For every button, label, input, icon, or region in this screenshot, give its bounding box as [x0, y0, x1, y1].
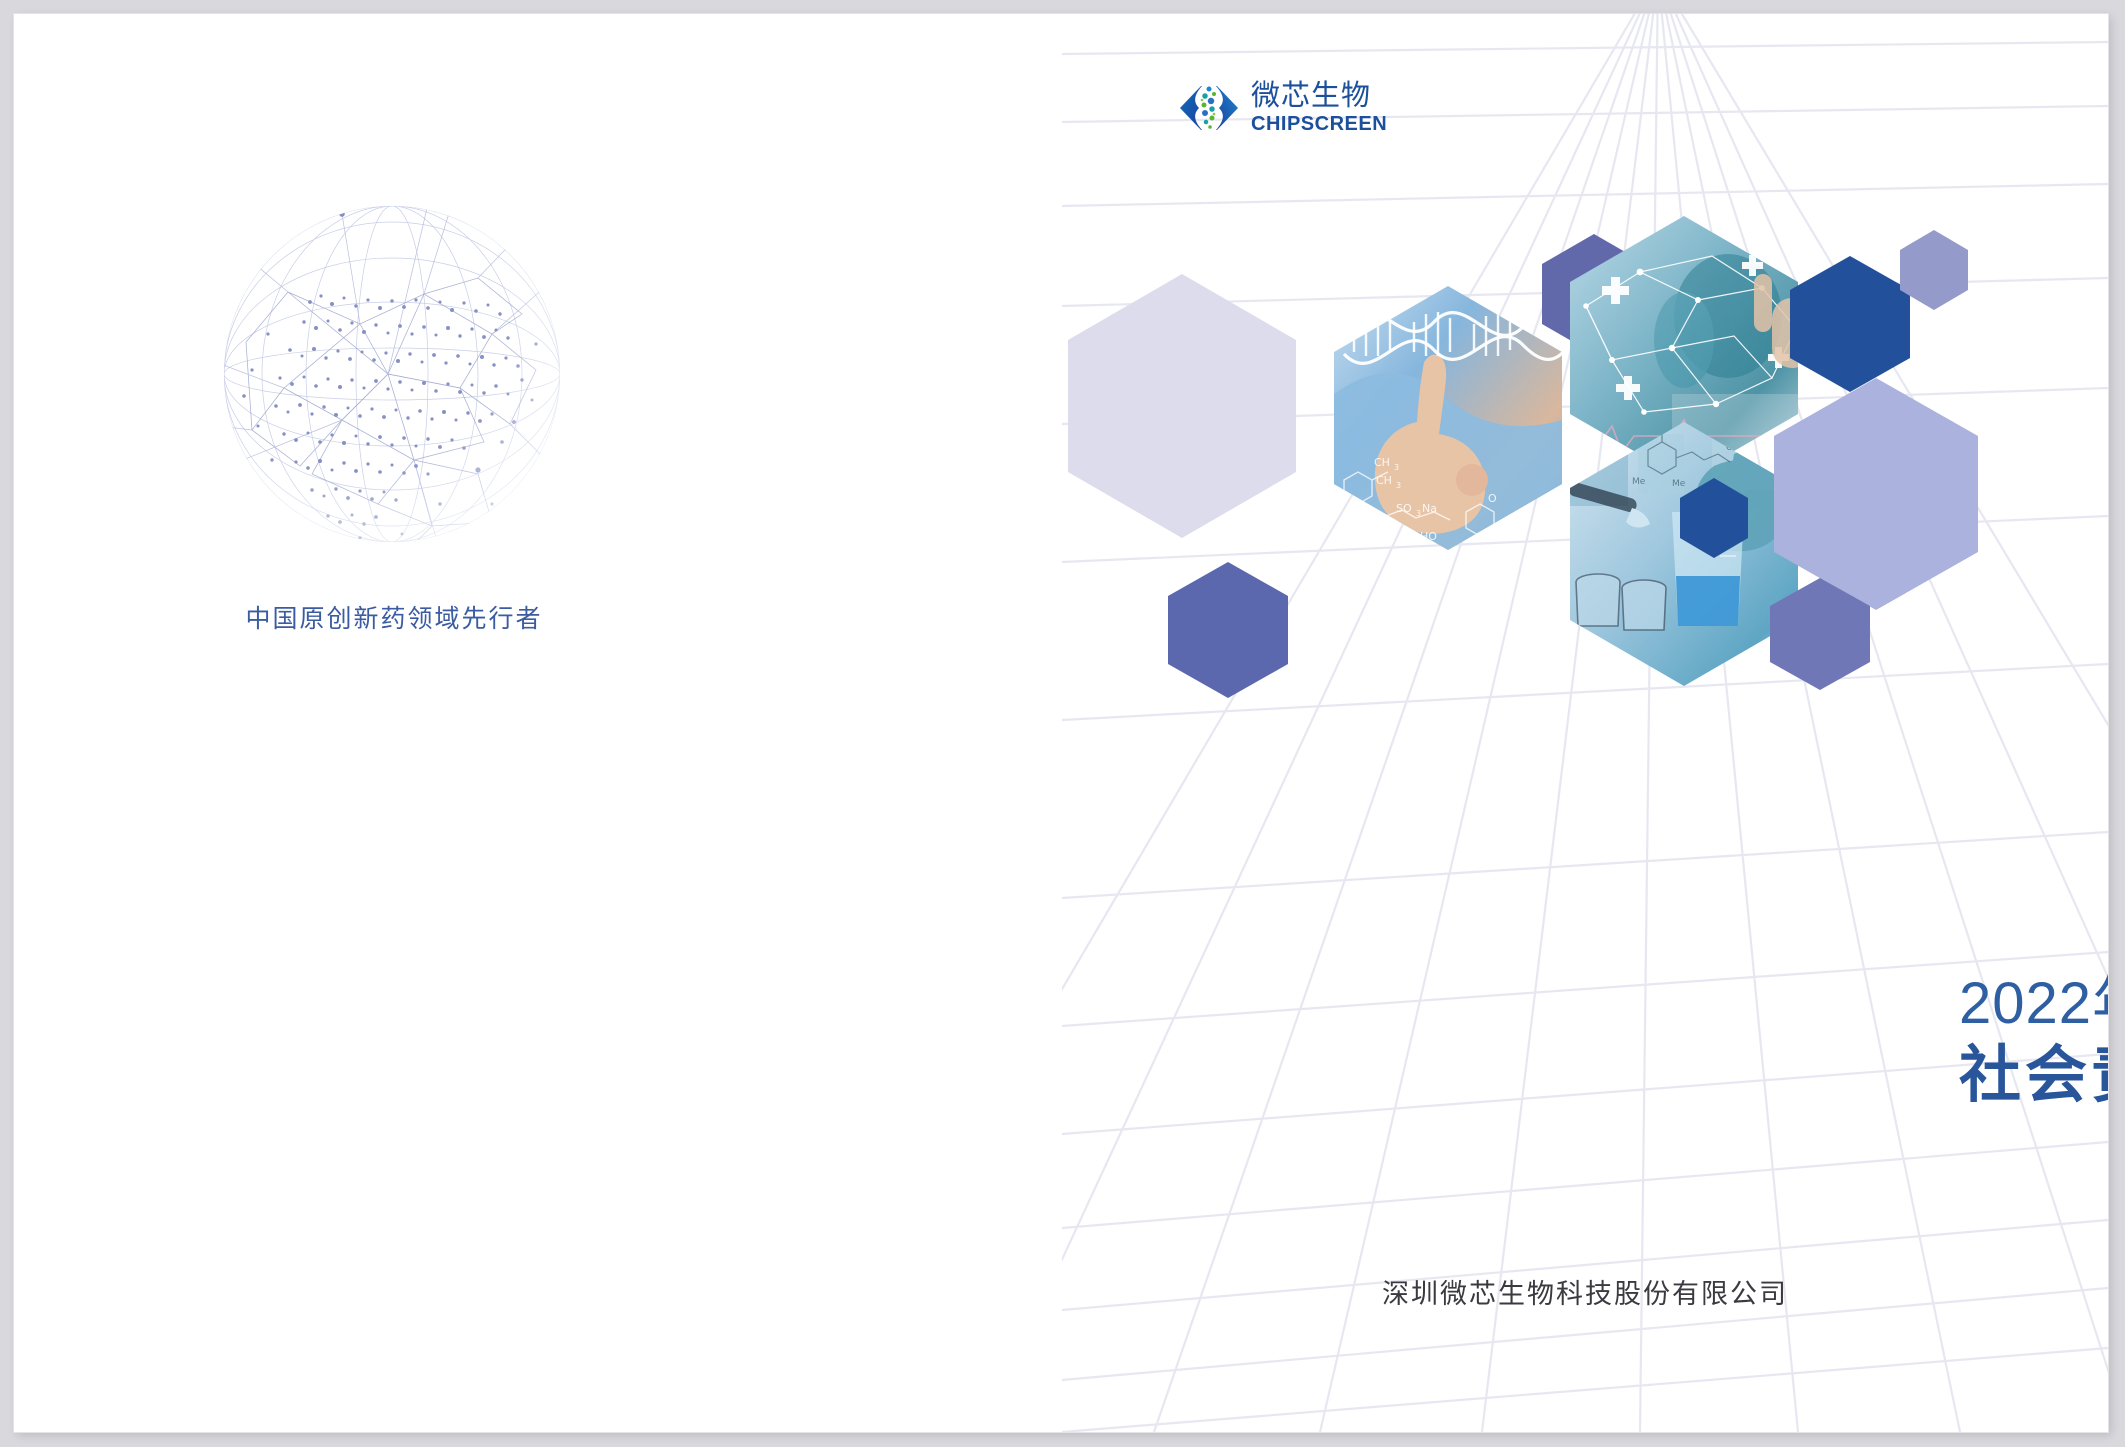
svg-text:CH: CH — [1376, 474, 1392, 487]
logo-wordmark: 微芯生物 CHIPSCREEN — [1251, 82, 1387, 134]
logo-english-name: CHIPSCREEN — [1251, 114, 1387, 134]
logo-chinese-name: 微芯生物 — [1251, 82, 1387, 111]
cover-spread: 中国原创新药领域先行者 — [0, 0, 2125, 1447]
company-logo: 微芯生物 CHIPSCREEN — [1179, 82, 1387, 134]
hex-large-periwinkle — [1774, 378, 1978, 610]
svg-text:Me: Me — [1632, 477, 1646, 487]
front-cover-page: 微芯生物 CHIPSCREEN — [1062, 14, 2108, 1432]
perspective-grid-background — [1062, 14, 2108, 1432]
hex-light-lavender — [1068, 274, 1296, 538]
svg-text:CH: CH — [1374, 456, 1390, 469]
svg-text:Na: Na — [1422, 502, 1437, 515]
svg-text:SO: SO — [1396, 502, 1412, 515]
svg-text:3: 3 — [1396, 481, 1401, 490]
hex-photo-dna-hand: CH3 CH3 SO3Na HO O — [1326, 274, 1574, 564]
back-cover-tagline: 中国原创新药领域先行者 — [14, 599, 774, 635]
svg-text:HO: HO — [1420, 530, 1437, 543]
back-cover-page: 中国原创新药领域先行者 — [14, 14, 1062, 1432]
paper-sheet: 中国原创新药领域先行者 — [14, 14, 2108, 1432]
chipscreen-diamond-emblem-icon — [1179, 82, 1239, 134]
report-title: 社会责任报告 — [1959, 1024, 2108, 1114]
svg-text:Me: Me — [1672, 479, 1686, 489]
svg-text:3: 3 — [1394, 463, 1399, 472]
dotted-globe-network-icon — [192, 174, 592, 574]
svg-text:3: 3 — [1416, 509, 1421, 518]
hexagon-photo-cluster: CH3 CH3 SO3Na HO O — [1062, 244, 2108, 674]
hex-dark-navy — [1790, 256, 1910, 392]
company-name-footer: 深圳微芯生物科技股份有限公司 — [1062, 1272, 2108, 1311]
svg-text:O: O — [1488, 492, 1497, 505]
